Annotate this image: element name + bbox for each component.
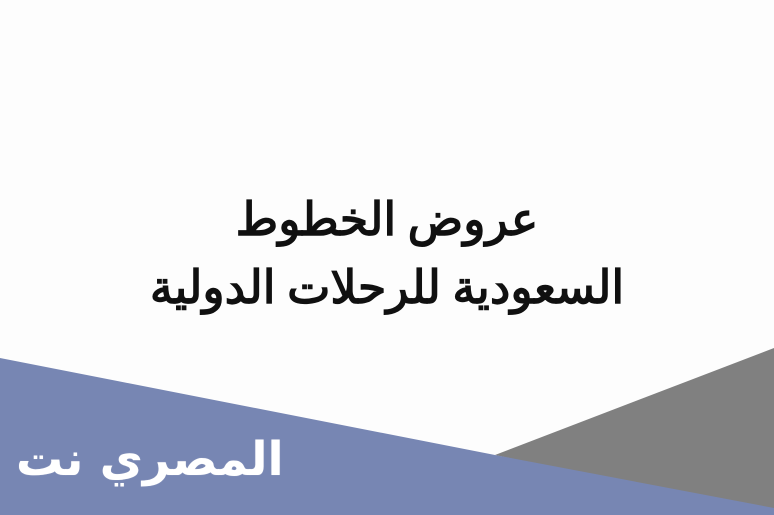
poster-canvas: عروض الخطوط السعودية للرحلات الدولية الم… [0,0,774,515]
page-title-line-1: عروض الخطوط [60,186,714,254]
page-title-line-2: السعودية للرحلات الدولية [60,254,714,322]
site-watermark-logo: المصري نت [16,430,284,490]
page-title: عروض الخطوط السعودية للرحلات الدولية [0,186,774,322]
